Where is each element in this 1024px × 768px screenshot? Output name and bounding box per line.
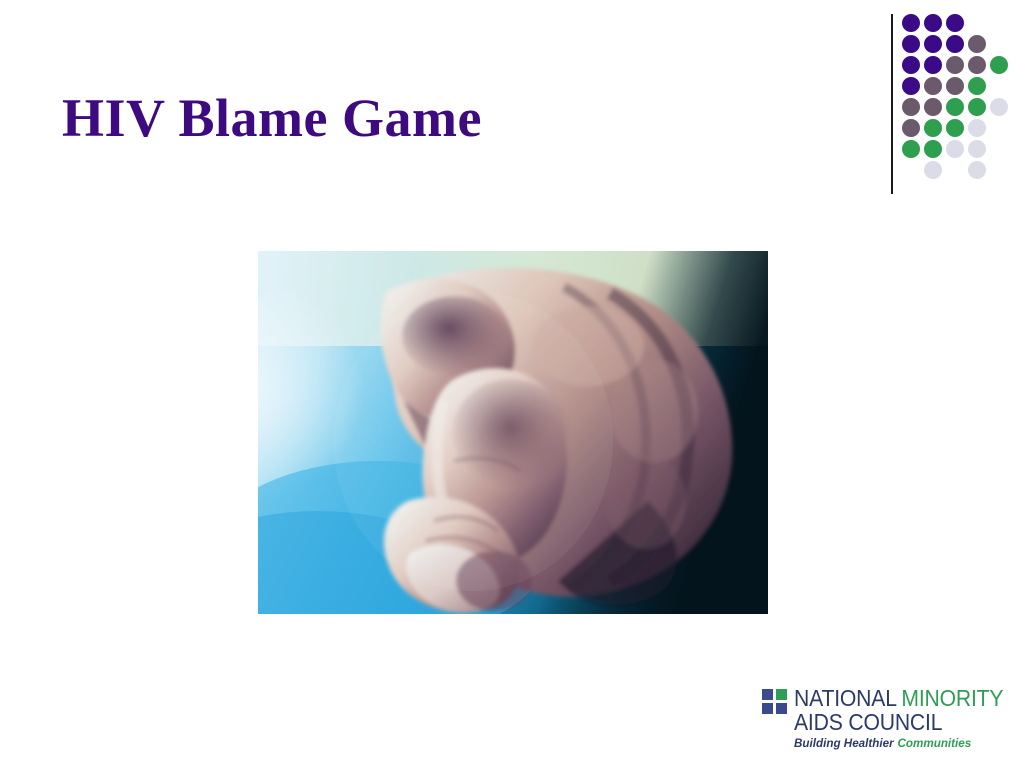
dot-light	[968, 161, 986, 179]
logo-line-two: AIDS COUNCIL	[794, 710, 958, 735]
logo-word-minority: MINORITY	[901, 685, 1003, 711]
dot-mauve	[968, 35, 986, 53]
dot-purple	[924, 14, 942, 32]
dot-light	[990, 98, 1008, 116]
dot-mauve	[946, 56, 964, 74]
tagline-part-two: Communities	[897, 736, 971, 750]
dot-mauve	[968, 56, 986, 74]
dot-green	[968, 77, 986, 95]
dot-purple	[924, 35, 942, 53]
dot-green	[968, 98, 986, 116]
dot-purple	[924, 56, 942, 74]
logo-tagline: Building HealthierCommunities	[794, 736, 967, 750]
brand-mark	[884, 8, 1016, 194]
logo-wordmark: NATIONALMINORITY AIDS COUNCIL Building H…	[794, 686, 972, 750]
dot-purple	[902, 77, 920, 95]
dot-light	[946, 140, 964, 158]
logo-line-one: NATIONALMINORITY	[794, 686, 958, 710]
dot-green	[924, 140, 942, 158]
dot-green	[946, 98, 964, 116]
dot-purple	[946, 14, 964, 32]
pointing-finger-photo	[258, 251, 768, 614]
dot-purple	[902, 56, 920, 74]
logo-word-national: NATIONAL	[794, 685, 897, 711]
square-top-right	[776, 689, 787, 700]
page-title: HIV Blame Game	[62, 88, 482, 148]
dot-light	[924, 161, 942, 179]
dot-purple	[946, 35, 964, 53]
dot-mauve	[902, 119, 920, 137]
four-squares-icon	[762, 689, 788, 715]
dot-light	[968, 140, 986, 158]
vertical-rule-divider	[891, 14, 893, 194]
dot-mauve	[902, 98, 920, 116]
dot-green	[990, 56, 1008, 74]
dot-purple	[902, 35, 920, 53]
dot-green	[946, 119, 964, 137]
tagline-part-one: Building Healthier	[794, 736, 894, 750]
organization-logo: NATIONALMINORITY AIDS COUNCIL Building H…	[762, 686, 972, 754]
square-top-left	[762, 689, 773, 700]
dot-purple	[902, 14, 920, 32]
square-bottom-left	[762, 703, 773, 714]
dot-light	[968, 119, 986, 137]
dot-green	[924, 119, 942, 137]
slide-canvas: HIV Blame Game	[0, 0, 1024, 768]
dot-mauve	[924, 98, 942, 116]
dot-mauve	[946, 77, 964, 95]
pointing-finger-illustration	[258, 251, 768, 614]
square-bottom-right	[776, 703, 787, 714]
dot-grid-icon	[902, 14, 1014, 190]
dot-green	[902, 140, 920, 158]
dot-mauve	[924, 77, 942, 95]
